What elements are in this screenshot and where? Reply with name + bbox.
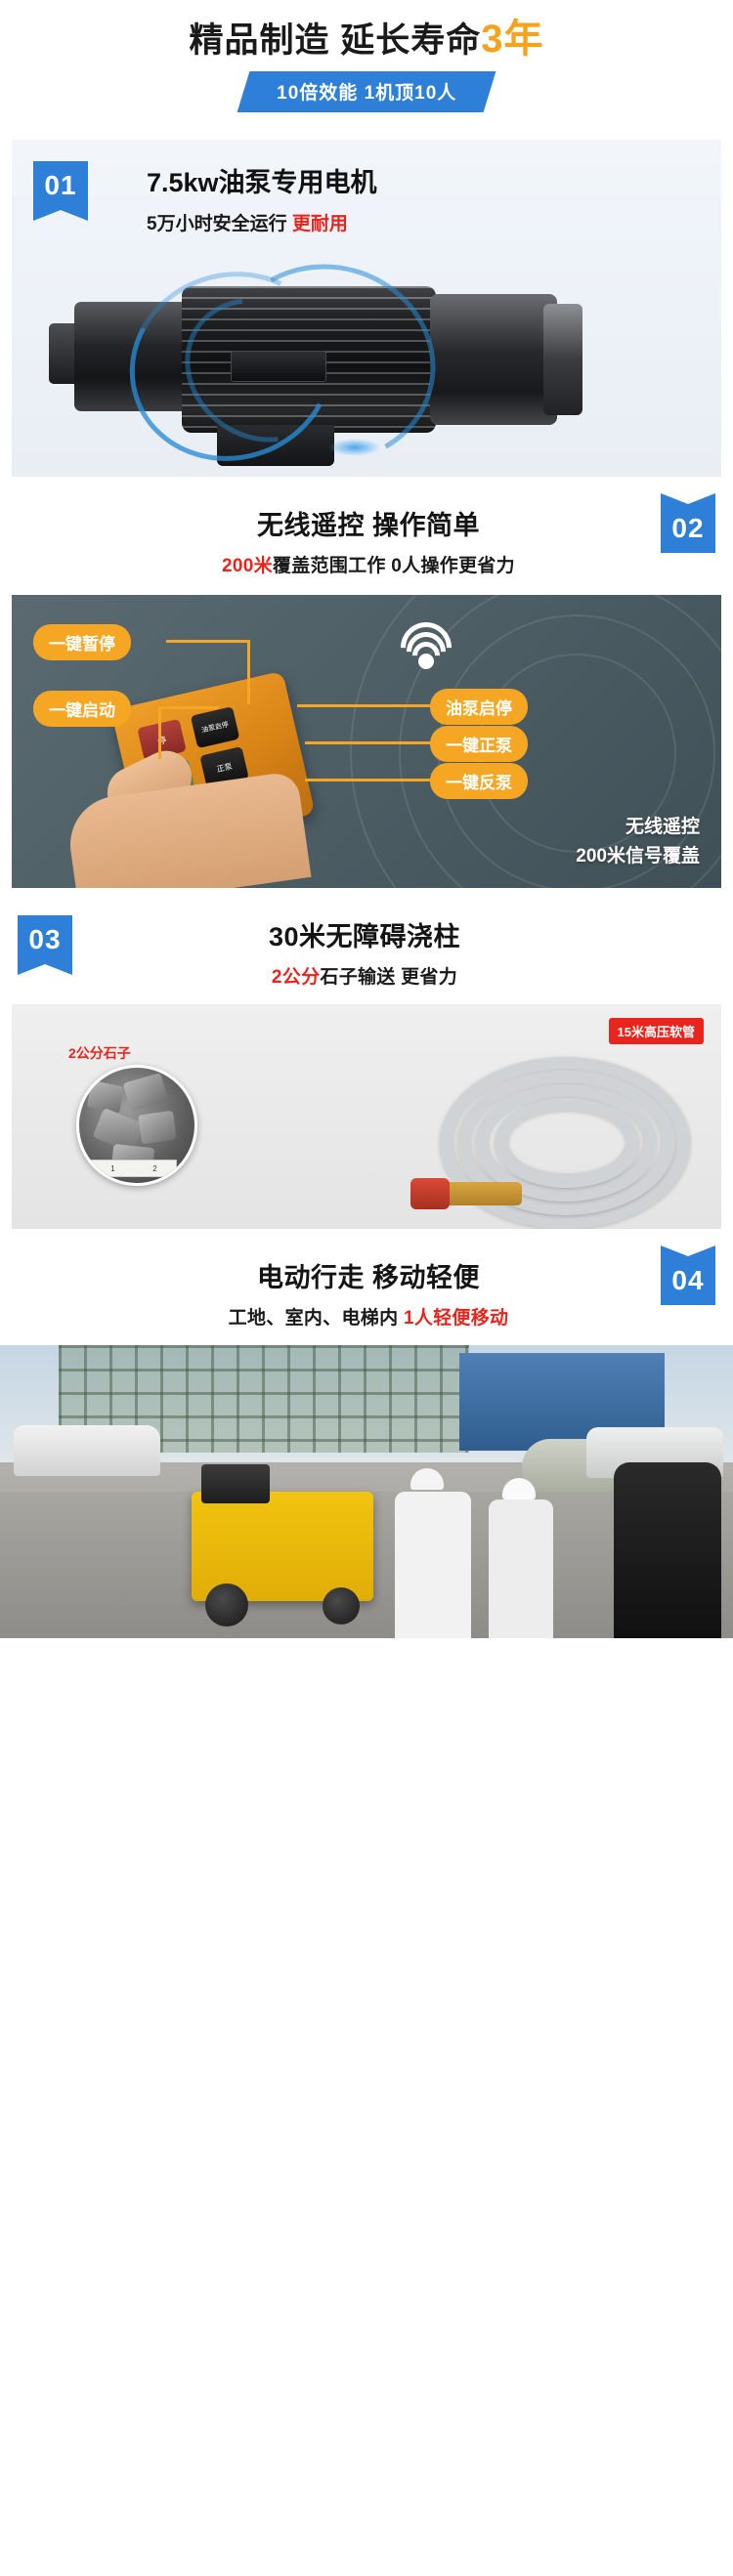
machine-control-panel — [201, 1464, 270, 1503]
section-03-subtitle-red: 2公分 — [272, 967, 320, 988]
hose-brass-coupler — [438, 1182, 522, 1205]
section-03-header: 03 30米无障碍浇柱 2公分石子输送 更省力 — [0, 915, 733, 989]
section-01-panel: 01 7.5kw油泵专用电机 5万小时安全运行 更耐用 — [12, 140, 721, 477]
motor-end-cap — [543, 304, 582, 415]
worker-white-shirt — [395, 1492, 471, 1638]
section-03-subtitle-black: 石子输送 更省力 — [320, 967, 457, 988]
section-04-badge: 04 — [661, 1256, 715, 1305]
white-van-left — [14, 1425, 160, 1476]
motor-glow-highlight — [328, 439, 381, 456]
worker-dark-clothing — [614, 1462, 721, 1638]
callout-pump-toggle: 油泵启停 — [430, 689, 528, 725]
section-01-subtitle-black: 5万小时安全运行 — [147, 214, 292, 234]
section-01-subtitle-red: 更耐用 — [292, 214, 348, 234]
ruler-scale: 1 2 — [91, 1160, 177, 1177]
callout-line — [305, 741, 436, 744]
section-02-titles: 无线遥控 操作简单 200米覆盖范围工作 0人操作更省力 — [18, 504, 661, 577]
section-01: 01 7.5kw油泵专用电机 5万小时安全运行 更耐用 — [0, 140, 733, 477]
header-ribbon-wrap: 10倍效能 1机顶10人 — [0, 71, 733, 112]
section-04-title: 电动行走 移动轻便 — [76, 1256, 661, 1294]
corner-line-1: 无线遥控 — [576, 813, 700, 841]
section-03-subtitle: 2公分石子输送 更省力 — [72, 962, 657, 989]
callout-forward-pump: 一键正泵 — [430, 726, 528, 762]
wifi-signal-icon — [403, 622, 455, 667]
stone-size-label: 2公分石子 — [68, 1043, 131, 1063]
hose-and-stone-photo: 2公分石子 1 2 15米高压软管 — [12, 1004, 721, 1229]
callout-line — [166, 640, 250, 643]
section-04-titles: 电动行走 移动轻便 工地、室内、电梯内 1人轻便移动 — [18, 1256, 661, 1330]
gravel-sample-circle: 1 2 — [76, 1065, 197, 1186]
section-02-badge: 02 — [661, 504, 715, 553]
section-04-subtitle-black: 工地、室内、电梯内 — [229, 1308, 404, 1329]
worker-helmet — [410, 1468, 444, 1490]
callout-line — [158, 706, 219, 709]
page-title-main: 精品制造 延长寿命 — [190, 21, 482, 60]
ruler-mark-1: 1 — [110, 1164, 114, 1173]
section-03-titles: 30米无障碍浇柱 2公分石子输送 更省力 — [72, 915, 715, 989]
section-02-subtitle-red: 200米 — [222, 556, 273, 576]
section-02-subtitle-black: 覆盖范围工作 0人操作更省力 — [273, 556, 515, 576]
header-ribbon-label: 10倍效能 1机顶10人 — [277, 78, 456, 105]
section-01-header: 01 7.5kw油泵专用电机 5万小时安全运行 更耐用 — [12, 140, 721, 235]
section-01-title: 7.5kw油泵专用电机 — [147, 161, 377, 199]
callout-line — [158, 706, 161, 759]
page-header: 精品制造 延长寿命3年 10倍效能 1机顶10人 — [0, 0, 733, 112]
section-01-badge: 01 — [33, 161, 88, 210]
machine-wheel — [323, 1587, 360, 1625]
callout-line — [247, 640, 250, 704]
callout-line — [305, 779, 436, 781]
hose-red-coupler — [410, 1178, 450, 1209]
section-04-subtitle-red: 1人轻便移动 — [404, 1308, 508, 1329]
motor-rear-housing — [430, 294, 557, 425]
callout-start: 一键启动 — [33, 691, 131, 727]
callout-line — [297, 704, 442, 707]
remote-control-photo: 停 油泵启停 正泵 备用 备用 一键暂停 一键启动 油泵启停 一键正泵 一键反 — [12, 595, 721, 888]
section-01-subtitle: 5万小时安全运行 更耐用 — [147, 209, 377, 235]
section-03: 03 30米无障碍浇柱 2公分石子输送 更省力 2公分石子 1 2 — [0, 915, 733, 1229]
section-01-titles: 7.5kw油泵专用电机 5万小时安全运行 更耐用 — [147, 161, 377, 235]
worker-second — [489, 1499, 553, 1638]
callout-reverse-pump: 一键反泵 — [430, 763, 528, 799]
section-03-badge: 03 — [18, 915, 72, 964]
construction-site-photo — [0, 1345, 733, 1638]
section-04: 电动行走 移动轻便 工地、室内、电梯内 1人轻便移动 04 — [0, 1256, 733, 1638]
header-ribbon: 10倍效能 1机顶10人 — [237, 71, 496, 112]
high-pressure-hose-coil — [414, 1028, 708, 1219]
product-detail-page: 精品制造 延长寿命3年 10倍效能 1机顶10人 01 7.5kw油泵专用电机 … — [0, 0, 733, 1638]
section-04-header: 电动行走 移动轻便 工地、室内、电梯内 1人轻便移动 04 — [0, 1256, 733, 1330]
page-title: 精品制造 延长寿命3年 — [0, 18, 733, 61]
hand-holding-remote — [65, 771, 312, 888]
section-04-subtitle: 工地、室内、电梯内 1人轻便移动 — [76, 1303, 661, 1330]
page-title-accent: 3年 — [481, 18, 543, 61]
ruler-mark-2: 2 — [152, 1164, 156, 1173]
section-02-subtitle: 200米覆盖范围工作 0人操作更省力 — [76, 551, 661, 577]
corner-line-2: 200米信号覆盖 — [576, 842, 700, 870]
section-02: 无线遥控 操作简单 200米覆盖范围工作 0人操作更省力 02 停 油泵启停 — [0, 504, 733, 888]
section-02-corner-text: 无线遥控 200米信号覆盖 — [576, 813, 700, 870]
remote-key-pump-toggle[interactable]: 油泵启停 — [191, 706, 240, 748]
motor-product-image — [35, 247, 719, 472]
machine-wheel — [205, 1584, 248, 1626]
callout-pause: 一键暂停 — [33, 624, 131, 660]
section-02-title: 无线遥控 操作简单 — [76, 504, 661, 542]
section-02-header: 无线遥控 操作简单 200米覆盖范围工作 0人操作更省力 02 — [0, 504, 733, 577]
section-03-title: 30米无障碍浇柱 — [72, 915, 657, 953]
